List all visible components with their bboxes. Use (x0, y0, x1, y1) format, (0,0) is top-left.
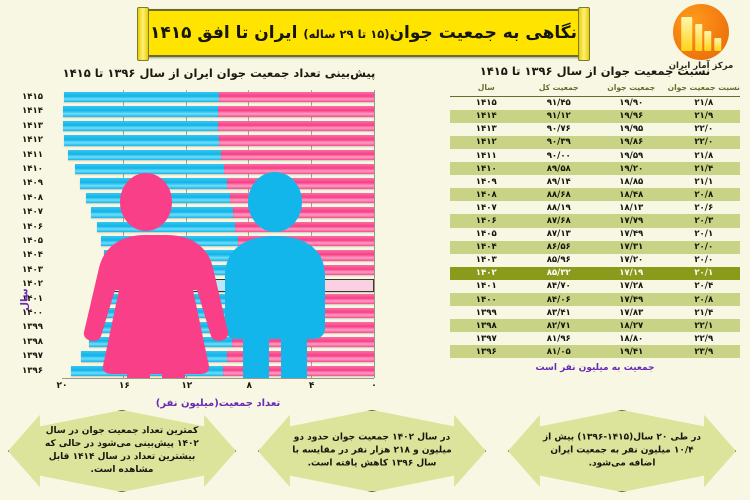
table-cell: ۸۹/۵۸ (523, 162, 596, 175)
chart-bar-female-segment (224, 164, 374, 175)
chart-x-tick-label: ۴ (309, 381, 315, 391)
gender-silhouettes (62, 90, 374, 378)
chart-bar-male-segment (64, 135, 219, 146)
chart-bar (104, 294, 374, 305)
callout-text: در طی ۲۰ سال(۱۴۱۵-۱۳۹۶) بیش از ۱۰/۴ میلی… (536, 432, 708, 471)
chart-bar (63, 121, 374, 132)
chart-y-tick-label: ۱۴۰۸ (22, 193, 56, 204)
chart-y-tick-label: ۱۳۹۶ (22, 366, 56, 377)
table-cell: ۲۱/۹ (668, 110, 741, 123)
table-cell: ۲۲/۱ (668, 319, 741, 332)
table-row: ۲۱/۸۱۹/۵۹۹۰/۰۰۱۴۱۱ (450, 149, 740, 162)
table-cell: ۱۹/۴۱ (595, 345, 668, 358)
chart-y-tick-label: ۱۴۰۹ (22, 178, 56, 189)
table-cell: ۲۱/۴ (668, 306, 741, 319)
chart-bar-male-segment (101, 308, 237, 319)
chart-x-tick-label: ۱۲ (181, 381, 192, 391)
table-cell: ۲۲/۰ (668, 136, 741, 149)
table-cell: ۱۷/۲۰ (595, 254, 668, 267)
table-cell: ۱۹/۸۶ (595, 136, 668, 149)
table-header-row: نسبت جمعیت جوانجمعیت جوانجمعیت کلسال (450, 83, 740, 96)
population-table: نسبت جمعیت جوانجمعیت جوانجمعیت کلسال ۲۱/… (450, 83, 740, 358)
chart-y-tick-label: ۱۴۰۴ (22, 250, 56, 261)
table-cell: ۸۷/۶۸ (523, 214, 596, 227)
table-row: ۲۳/۹۱۹/۴۱۸۱/۰۵۱۳۹۶ (450, 345, 740, 358)
chart-y-tick-label: ۱۴۰۶ (22, 222, 56, 233)
chart-bar-female-segment (239, 250, 374, 261)
chart-bar-female-segment (221, 150, 374, 161)
table-cell: ۱۷/۴۹ (595, 228, 668, 241)
chart-bar-male-segment (75, 164, 225, 175)
table-cell: ۲۰/۶ (668, 201, 741, 214)
table-cell: ۱۸/۸۰ (595, 332, 668, 345)
chart-bar-female-segment (218, 106, 374, 117)
chart-bar (74, 164, 374, 175)
table-cell: ۸۱/۹۶ (523, 332, 596, 345)
table-row: ۲۰/۰۱۷/۲۰۸۵/۹۶۱۴۰۳ (450, 254, 740, 267)
chart-x-tick-label: ۸ (246, 381, 252, 391)
table-note: جمعیت به میلیون نفر است (442, 363, 748, 373)
chart-x-tick-label: ۱۶ (119, 381, 130, 391)
table-panel: نسبت جمعیت جوان از سال ۱۳۹۶ تا ۱۴۱۵ نسبت… (442, 62, 748, 402)
chart-bar (106, 265, 374, 276)
chart-bar-male-segment (106, 279, 240, 292)
chart-bar-female-segment (240, 265, 374, 276)
chart-bar-male-segment (96, 322, 235, 333)
table-row: ۲۲/۰۱۹/۹۵۹۰/۷۶۱۴۱۳ (450, 123, 740, 136)
chart-x-tick-label: ۲۰ (57, 381, 68, 391)
table-row: ۲۱/۴۱۷/۸۳۸۳/۴۱۱۳۹۹ (450, 306, 740, 319)
table-cell: ۱۹/۹۶ (595, 110, 668, 123)
table-cell: ۲۰/۸ (668, 188, 741, 201)
table-cell: ۱۹/۹۵ (595, 123, 668, 136)
table-cell: ۱۹/۲۰ (595, 162, 668, 175)
table-cell: ۸۸/۱۹ (523, 201, 596, 214)
chart-y-axis-title: سال (20, 288, 31, 310)
chart-bar (80, 178, 374, 189)
table-column-header: جمعیت جوان (595, 83, 668, 96)
chart-bar-male-segment (97, 222, 236, 233)
table-cell: ۲۱/۸ (668, 149, 741, 162)
callout-text: کمترین تعداد جمعیت جوان در سال ۱۴۰۲ پیش‌… (36, 425, 208, 477)
chart-y-tick-label: ۱۴۱۲ (22, 135, 56, 146)
chart-bar-female-segment (238, 308, 374, 319)
table-cell: ۲۳/۹ (668, 345, 741, 358)
table-cell: ۱۴۱۲ (450, 136, 523, 149)
table-cell: ۲۱/۴ (668, 162, 741, 175)
table-cell: ۱۷/۳۱ (595, 241, 668, 254)
callout-text: در سال ۱۴۰۲ جمعیت جوان حدود دو میلیون و … (286, 432, 458, 471)
table-cell: ۲۰/۰ (668, 241, 741, 254)
title-tail-text: ایران تا افق ۱۴۱۵ (150, 23, 297, 43)
table-column-header: جمعیت کل (523, 83, 596, 96)
table-cell: ۱۹/۹۰ (595, 96, 668, 110)
callout-box: کمترین تعداد جمعیت جوان در سال ۱۴۰۲ پیش‌… (8, 410, 236, 492)
table-cell: ۱۷/۷۹ (595, 214, 668, 227)
table-cell: ۸۷/۱۳ (523, 228, 596, 241)
chart-gridline (248, 90, 249, 378)
chart-bar (96, 322, 374, 333)
chart-bar-male-segment (80, 178, 227, 189)
chart-bar-female-segment (227, 351, 374, 362)
table-row: ۲۲/۰۱۹/۸۶۹۰/۳۹۱۴۱۲ (450, 136, 740, 149)
chart-bar-male-segment (68, 150, 221, 161)
table-row: ۲۱/۹۱۹/۹۶۹۱/۱۲۱۴۱۴ (450, 110, 740, 123)
table-cell: ۸۴/۷۰ (523, 280, 596, 293)
chart-y-axis (374, 90, 375, 378)
chart-bar (71, 366, 374, 377)
page-title: نگاهی به جمعیت جوان(۱۵ تا ۲۹ ساله) ایران… (150, 23, 577, 43)
table-cell: ۸۶/۵۶ (523, 241, 596, 254)
chart-bar-female-segment (219, 92, 374, 103)
table-cell: ۲۰/۰ (668, 254, 741, 267)
chart-bar (104, 250, 374, 261)
table-row: ۲۱/۸۱۹/۹۰۹۱/۴۵۱۴۱۵ (450, 96, 740, 110)
chart-bar (91, 207, 374, 218)
chart-y-tick-label: ۱۴۰۷ (22, 207, 56, 218)
chart-bar-female-segment (223, 366, 374, 377)
chart-y-tick-label: ۱۴۰۳ (22, 265, 56, 276)
table-cell: ۲۰/۴ (668, 280, 741, 293)
chart-bar (86, 193, 374, 204)
table-row: ۲۰/۳۱۷/۷۹۸۷/۶۸۱۴۰۶ (450, 214, 740, 227)
table-cell: ۹۰/۳۹ (523, 136, 596, 149)
table-cell: ۱۴۱۴ (450, 110, 523, 123)
logo-bars-icon (681, 17, 721, 51)
chart-bar (89, 337, 374, 348)
table-cell: ۱۴۰۴ (450, 241, 523, 254)
table-row: ۲۱/۱۱۸/۸۵۸۹/۱۴۱۴۰۹ (450, 175, 740, 188)
table-cell: ۱۴۰۳ (450, 254, 523, 267)
chart-bar-male-segment (64, 92, 219, 103)
chart-bar (101, 236, 374, 247)
table-cell: ۱۴۱۱ (450, 149, 523, 162)
chart-x-tick-label: ۰ (371, 381, 377, 391)
chart-bar-male-segment (91, 207, 232, 218)
chart-bar-male-segment (71, 366, 222, 377)
chart-bar-female-segment (240, 279, 374, 292)
table-cell: ۱۴۱۳ (450, 123, 523, 136)
chart-bar (64, 135, 374, 146)
chart-bar-male-segment (106, 265, 240, 276)
table-cell: ۲۰/۳ (668, 214, 741, 227)
table-cell: ۱۸/۲۷ (595, 319, 668, 332)
table-title: نسبت جمعیت جوان از سال ۱۳۹۶ تا ۱۴۱۵ (442, 64, 748, 78)
table-row: ۲۲/۹۱۸/۸۰۸۱/۹۶۱۳۹۷ (450, 332, 740, 345)
logo-circle-icon (673, 4, 729, 60)
chart-y-tick-label: ۱۴۱۴ (22, 106, 56, 117)
chart-bar-female-segment (218, 121, 374, 132)
table-cell: ۱۳۹۹ (450, 306, 523, 319)
table-cell: ۱۴۱۰ (450, 162, 523, 175)
table-cell: ۲۱/۱ (668, 175, 741, 188)
table-cell: ۱۴۱۵ (450, 96, 523, 110)
table-cell: ۸۸/۶۸ (523, 188, 596, 201)
table-cell: ۹۱/۴۵ (523, 96, 596, 110)
chart-bar-female-segment (232, 337, 375, 348)
chart-bar-female-segment (230, 193, 374, 204)
chart-y-tick-label: ۱۳۹۸ (22, 337, 56, 348)
table-cell: ۸۲/۷۱ (523, 319, 596, 332)
chart-bar-male-segment (63, 121, 219, 132)
table-cell: ۱۳۹۶ (450, 345, 523, 358)
chart-bar (63, 106, 374, 117)
chart-bar-female-segment (235, 222, 374, 233)
chart-bar-male-segment (89, 337, 232, 348)
chart-bar (101, 308, 374, 319)
table-cell: ۱۸/۱۳ (595, 201, 668, 214)
table-cell: ۱۴۰۶ (450, 214, 523, 227)
chart-y-tick-label: ۱۴۱۳ (22, 121, 56, 132)
chart-y-tick-label: ۱۳۹۹ (22, 322, 56, 333)
table-cell: ۱۳۹۸ (450, 319, 523, 332)
table-row: ۲۰/۴۱۷/۲۸۸۴/۷۰۱۴۰۱ (450, 280, 740, 293)
chart-y-tick-label: ۱۴۰۵ (22, 236, 56, 247)
table-column-header: نسبت جمعیت جوان (668, 83, 741, 96)
table-row: ۲۰/۰۱۷/۳۱۸۶/۵۶۱۴۰۴ (450, 241, 740, 254)
table-cell: ۱۴۰۸ (450, 188, 523, 201)
chart-bar (81, 351, 374, 362)
table-cell: ۱۷/۴۹ (595, 293, 668, 306)
chart-bar-male-segment (86, 193, 230, 204)
chart-x-axis (62, 378, 374, 379)
table-row: ۲۰/۱۱۷/۱۹۸۵/۳۲۱۴۰۲ (450, 267, 740, 280)
table-cell: ۱۴۰۹ (450, 175, 523, 188)
table-cell: ۱۷/۲۸ (595, 280, 668, 293)
chart-y-tick-label: ۱۴۱۰ (22, 164, 56, 175)
chart-bar-male-segment (81, 351, 228, 362)
chart-bar-female-segment (219, 135, 374, 146)
chart-gridline (186, 90, 187, 378)
callout-box: در طی ۲۰ سال(۱۴۱۵-۱۳۹۶) بیش از ۱۰/۴ میلی… (508, 410, 736, 492)
chart-bar-female-segment (235, 322, 374, 333)
callout-box: در سال ۱۴۰۲ جمعیت جوان حدود دو میلیون و … (258, 410, 486, 492)
table-row: ۲۰/۸۱۷/۴۹۸۴/۰۶۱۴۰۰ (450, 293, 740, 306)
table-row: ۲۰/۶۱۸/۱۳۸۸/۱۹۱۴۰۷ (450, 201, 740, 214)
table-cell: ۸۵/۹۶ (523, 254, 596, 267)
chart-bar-female-segment (239, 294, 374, 305)
bar-chart-plot: ۱۴۱۵۱۴۱۴۱۴۱۳۱۴۱۲۱۴۱۱۱۴۱۰۱۴۰۹۱۴۰۸۱۴۰۷۱۴۰۶… (62, 90, 374, 378)
table-cell: ۲۰/۱ (668, 267, 741, 280)
chart-bar (106, 279, 374, 290)
table-cell: ۸۵/۳۲ (523, 267, 596, 280)
table-cell: ۲۰/۸ (668, 293, 741, 306)
table-cell: ۱۷/۸۳ (595, 306, 668, 319)
table-row: ۲۰/۸۱۸/۴۸۸۸/۶۸۱۴۰۸ (450, 188, 740, 201)
table-cell: ۹۰/۷۶ (523, 123, 596, 136)
table-cell: ۲۲/۹ (668, 332, 741, 345)
table-cell: ۱۳۹۷ (450, 332, 523, 345)
table-cell: ۲۱/۸ (668, 96, 741, 110)
table-cell: ۱۷/۱۹ (595, 267, 668, 280)
chart-panel: پیش‌بینی تعداد جمعیت جوان ایران از سال ۱… (0, 62, 440, 407)
chart-bar (96, 222, 374, 233)
table-cell: ۲۲/۰ (668, 123, 741, 136)
table-cell: ۱۴۰۷ (450, 201, 523, 214)
chart-x-axis-title: تعداد جمعیت(میلیون نفر) (62, 398, 374, 409)
chart-bar-male-segment (104, 250, 239, 261)
table-cell: ۸۴/۰۶ (523, 293, 596, 306)
table-cell: ۹۱/۱۲ (523, 110, 596, 123)
table-row: ۲۱/۴۱۹/۲۰۸۹/۵۸۱۴۱۰ (450, 162, 740, 175)
table-row: ۲۲/۱۱۸/۲۷۸۲/۷۱۱۳۹۸ (450, 319, 740, 332)
chart-y-tick-label: ۱۳۹۷ (22, 351, 56, 362)
table-cell: ۸۹/۱۴ (523, 175, 596, 188)
chart-bar-female-segment (233, 207, 374, 218)
table-cell: ۲۰/۱ (668, 228, 741, 241)
chart-bar-male-segment (63, 106, 219, 117)
table-body: ۲۱/۸۱۹/۹۰۹۱/۴۵۱۴۱۵۲۱/۹۱۹/۹۶۹۱/۱۲۱۴۱۴۲۲/۰… (450, 96, 740, 358)
table-row: ۲۰/۱۱۷/۴۹۸۷/۱۳۱۴۰۵ (450, 228, 740, 241)
table-cell: ۱۴۰۲ (450, 267, 523, 280)
table-column-header: سال (450, 83, 523, 96)
title-banner: نگاهی به جمعیت جوان(۱۵ تا ۲۹ ساله) ایران… (141, 9, 586, 57)
title-sub-text: (۱۵ تا ۲۹ ساله) (303, 27, 389, 41)
chart-title: پیش‌بینی تعداد جمعیت جوان ایران از سال ۱… (20, 66, 418, 80)
table-cell: ۱۴۰۱ (450, 280, 523, 293)
table-cell: ۸۱/۰۵ (523, 345, 596, 358)
chart-bar-female-segment (238, 236, 374, 247)
chart-bar (64, 92, 374, 103)
chart-y-tick-label: ۱۴۱۵ (22, 92, 56, 103)
chart-bar-female-segment (227, 178, 374, 189)
chart-bar (68, 150, 374, 161)
chart-gridline (123, 90, 124, 378)
table-cell: ۱۸/۴۸ (595, 188, 668, 201)
table-cell: ۱۸/۸۵ (595, 175, 668, 188)
table-cell: ۱۹/۵۹ (595, 149, 668, 162)
chart-gridline (311, 90, 312, 378)
chart-bar-male-segment (104, 294, 239, 305)
chart-y-tick-label: ۱۴۱۱ (22, 150, 56, 161)
table-cell: ۹۰/۰۰ (523, 149, 596, 162)
table-cell: ۸۳/۴۱ (523, 306, 596, 319)
chart-bar-male-segment (101, 236, 237, 247)
title-main-text: نگاهی به جمعیت جوان (390, 23, 578, 43)
table-cell: ۱۴۰۵ (450, 228, 523, 241)
table-cell: ۱۴۰۰ (450, 293, 523, 306)
